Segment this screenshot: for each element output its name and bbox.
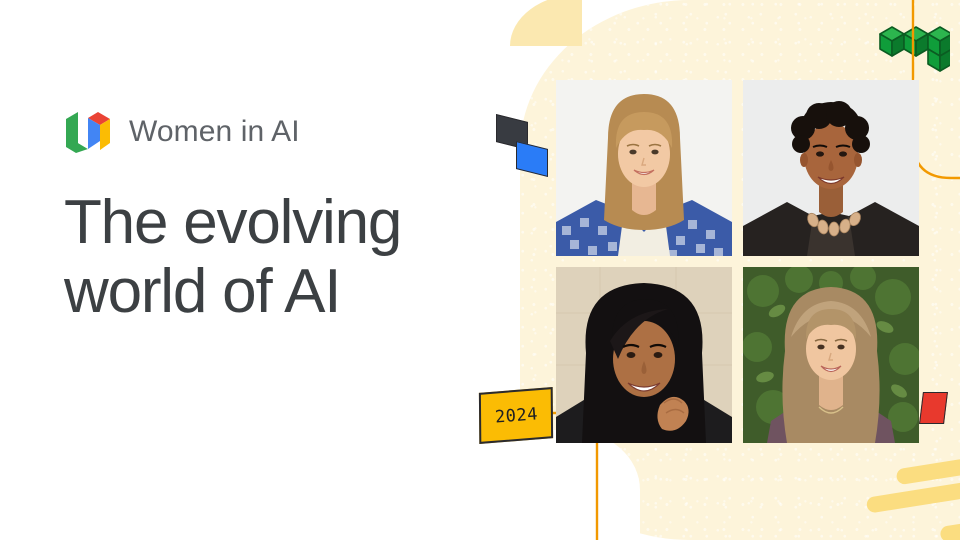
red-parallelogram-shape <box>919 392 948 424</box>
presentation-slide: 2024 <box>0 0 960 540</box>
year-badge-label: 2024 <box>494 404 538 427</box>
speaker-photo-grid <box>556 80 920 443</box>
headshot-photo-1 <box>556 80 732 256</box>
headshot-photo-3 <box>556 267 732 443</box>
headshot-photo-2 <box>743 80 919 256</box>
brand-lockup: Women in AI <box>64 110 300 154</box>
headline-line-1: The evolving <box>64 188 401 257</box>
left-content-column: Women in AI The evolving world of AI <box>64 0 484 540</box>
headshot-photo-4 <box>743 267 919 443</box>
page-title: The evolving world of AI <box>64 188 401 327</box>
brand-title: Women in AI <box>129 115 300 149</box>
women-in-ai-logo <box>64 110 112 154</box>
green-isometric-block-shape <box>878 16 950 74</box>
beige-quarter-round-shape <box>510 0 582 46</box>
headline-line-2: world of AI <box>64 257 340 326</box>
year-badge: 2024 <box>479 387 553 444</box>
